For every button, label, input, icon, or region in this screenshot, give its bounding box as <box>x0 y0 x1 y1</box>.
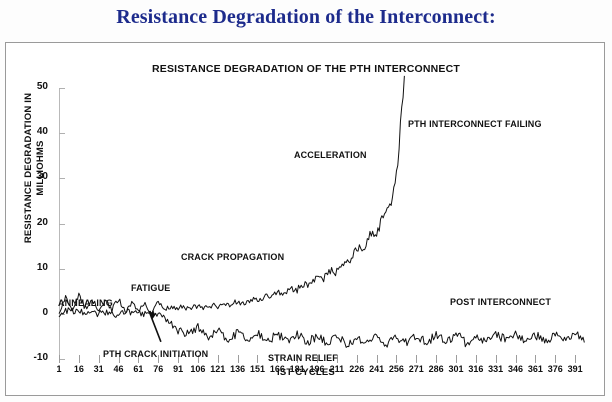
series-line-pth-interconnect-resistance <box>59 76 404 314</box>
x-axis-title: IST CYCLES <box>6 367 606 378</box>
chart-container: RESISTANCE DEGRADATION OF THE PTH INTERC… <box>5 42 605 396</box>
y-tick-label: 40 <box>8 126 48 137</box>
slide-page: Resistance Degradation of the Interconne… <box>0 0 612 402</box>
annotation-leader-line <box>149 311 161 342</box>
y-axis-title-line-2: MILLIOHMS <box>35 73 47 263</box>
annotation-fatigue: FATIGUE <box>131 283 170 293</box>
annotation-annealing: ANNEALING <box>58 298 113 308</box>
y-tick-label: 0 <box>8 307 48 318</box>
y-axis-title: RESISTANCE DEGRADATION IN MILLIOHMS <box>23 73 53 263</box>
series-line-post-interconnect-reference <box>59 308 584 348</box>
y-axis-title-line-1: RESISTANCE DEGRADATION IN <box>23 73 35 263</box>
y-tick-label: 10 <box>8 262 48 273</box>
annotation-pth-crack-initiation: PTH CRACK INITIATION <box>103 349 208 359</box>
chart-title: RESISTANCE DEGRADATION OF THE PTH INTERC… <box>6 63 606 75</box>
annotation-post-interconnect: POST INTERCONNECT <box>450 297 551 307</box>
y-tick-label: 20 <box>8 217 48 228</box>
y-tick-label: 30 <box>8 171 48 182</box>
y-tick-label: -10 <box>8 352 48 363</box>
page-title: Resistance Degradation of the Interconne… <box>0 6 612 29</box>
annotation-acceleration: ACCELERATION <box>294 150 367 160</box>
annotation-strain-relief: STRAIN RELIEF <box>268 353 338 363</box>
annotation-crack-propagation: CRACK PROPAGATION <box>181 252 284 262</box>
annotation-pth-interconnect-failing: PTH INTERCONNECT FAILING <box>408 119 542 129</box>
y-tick-label: 50 <box>8 81 48 92</box>
